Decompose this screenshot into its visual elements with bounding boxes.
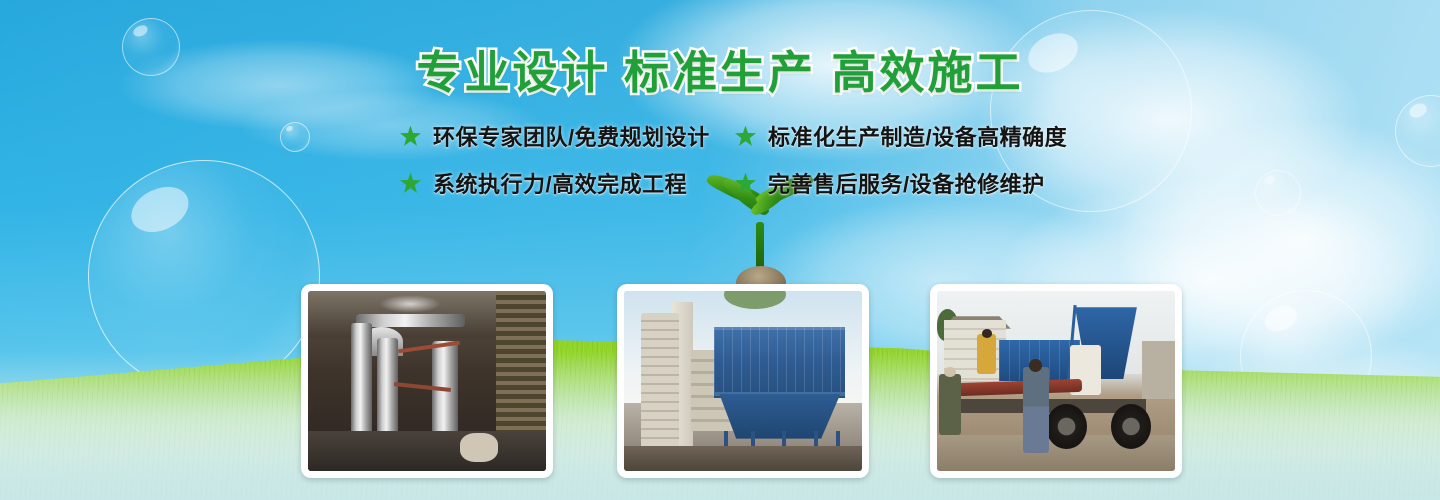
- sack: [460, 433, 498, 462]
- feature-list: 环保专家团队/免费规划设计 标准化生产制造/设备高精确度 系统执行力/高效完成工…: [400, 120, 1100, 199]
- worker-head: [982, 329, 993, 338]
- brick-chimney: [641, 313, 679, 453]
- worker-figure: [939, 374, 960, 435]
- star-icon: [735, 173, 756, 194]
- feature-label: 标准化生产制造/设备高精确度: [768, 120, 1067, 152]
- truck-wheel: [1046, 404, 1086, 449]
- ground: [624, 446, 862, 471]
- feature-item-1: 环保专家团队/免费规划设计: [400, 120, 735, 152]
- worker-figure: [977, 334, 996, 374]
- feature-item-3: 系统执行力/高效完成工程: [400, 167, 735, 199]
- feature-label: 环保专家团队/免费规划设计: [433, 120, 710, 152]
- photo-truck-loading: [937, 291, 1175, 471]
- worker-figure: [1023, 367, 1049, 453]
- baghouse-ribs: [714, 327, 845, 395]
- feature-label: 完善售后服务/设备抢修维护: [768, 167, 1045, 199]
- red-pipe-load: [958, 379, 1082, 396]
- feature-item-4: 完善售后服务/设备抢修维护: [735, 167, 1100, 199]
- star-icon: [735, 126, 756, 147]
- light-glow: [379, 295, 441, 313]
- photo-factory-ducting: [308, 291, 546, 471]
- page-title: 专业设计 标准生产 高效施工: [0, 36, 1440, 101]
- promo-banner: 专业设计 标准生产 高效施工 环保专家团队/免费规划设计 标准化生产制造/设备高…: [0, 0, 1440, 500]
- shed: [1142, 341, 1175, 399]
- worker-head: [1029, 359, 1042, 372]
- star-icon: [400, 126, 421, 147]
- feature-item-2: 标准化生产制造/设备高精确度: [735, 120, 1100, 152]
- factory-floor: [308, 431, 546, 471]
- photo-dust-collector: [624, 291, 862, 471]
- photo-card-3[interactable]: [930, 284, 1182, 478]
- feature-label: 系统执行力/高效完成工程: [433, 167, 687, 199]
- photo-card-1[interactable]: [301, 284, 553, 478]
- photo-card-2[interactable]: [617, 284, 869, 478]
- star-icon: [400, 173, 421, 194]
